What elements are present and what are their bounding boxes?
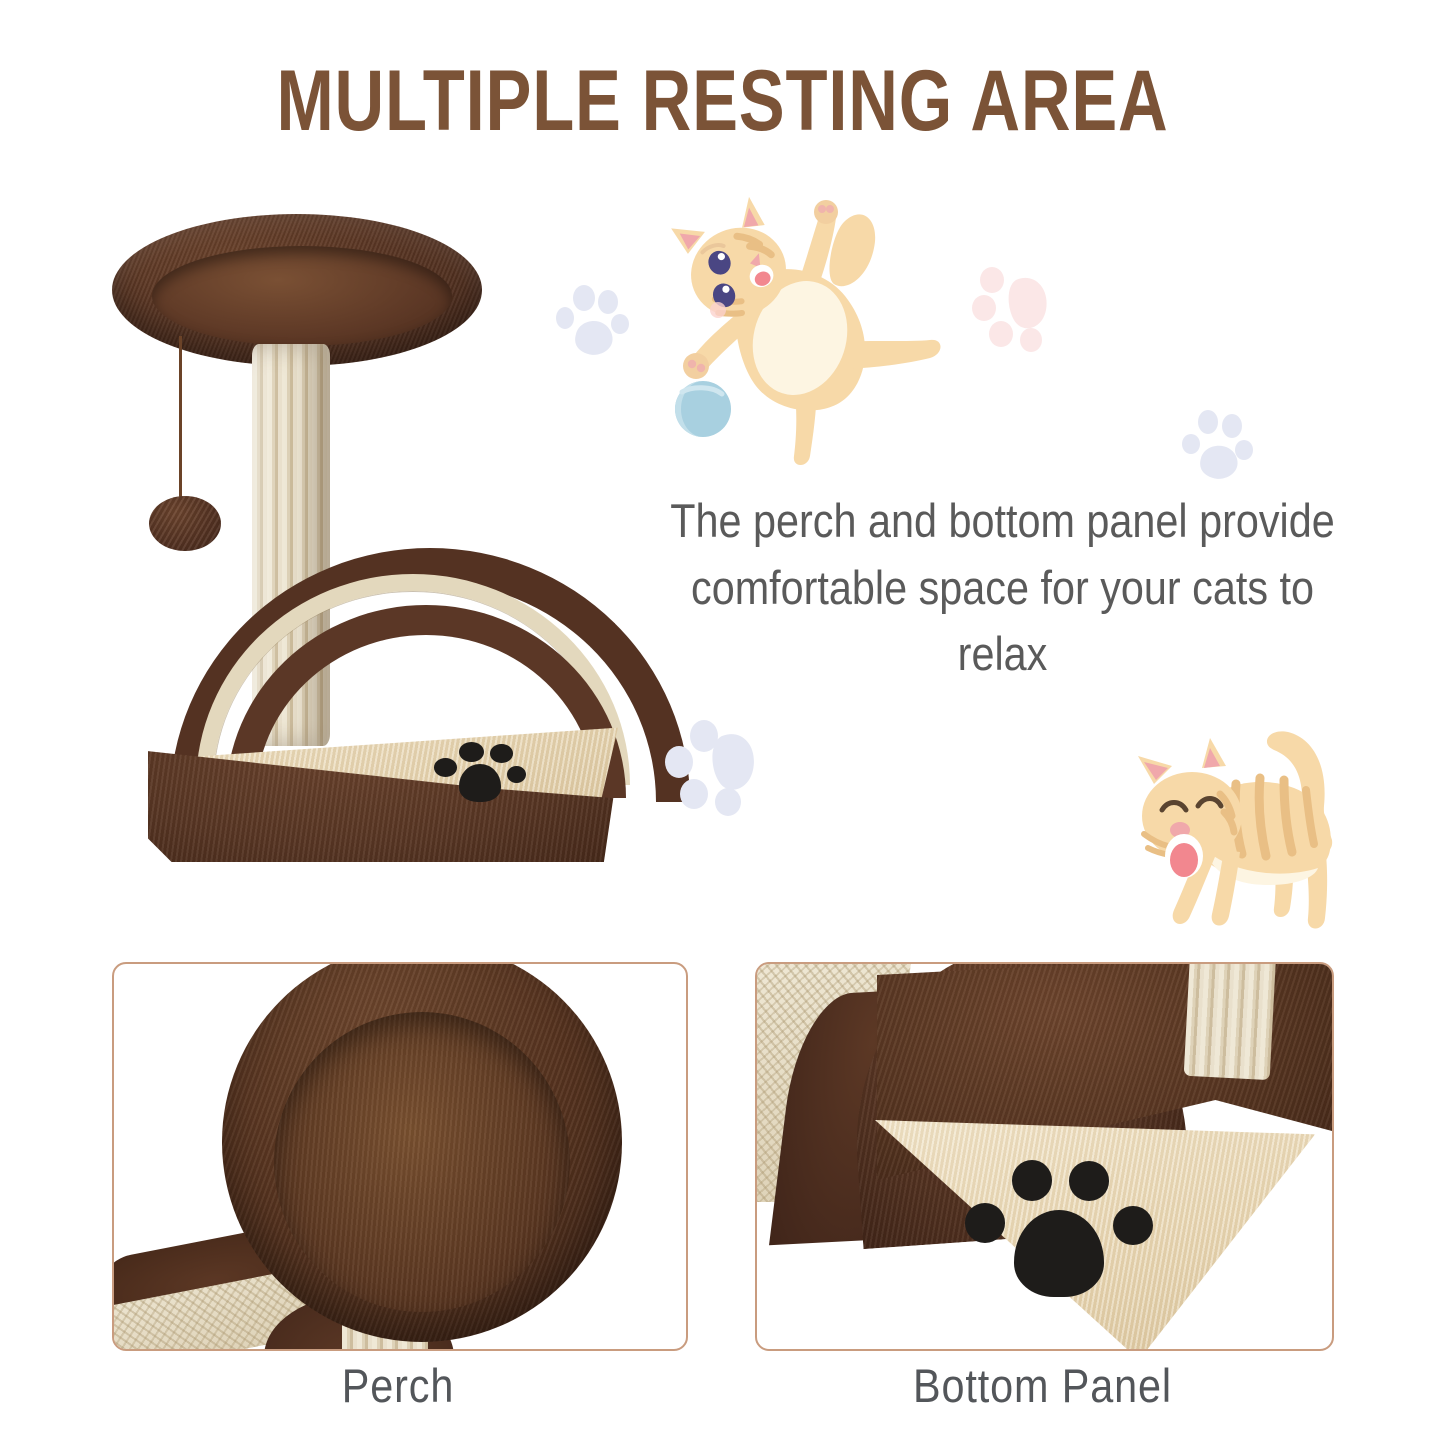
bottom-panel-caption: Bottom Panel xyxy=(790,1358,1296,1413)
description-text: The perch and bottom panel provide comfo… xyxy=(644,488,1361,688)
perch-caption: Perch xyxy=(146,1358,649,1413)
infographic-page: MULTIPLE RESTING AREA xyxy=(0,0,1445,1445)
paw-print-icon xyxy=(662,720,758,822)
perch-closeup-image xyxy=(114,964,686,1349)
bottom-panel-closeup-image xyxy=(757,964,1332,1349)
paw-print-icon xyxy=(963,1160,1153,1300)
paw-print-icon xyxy=(968,266,1054,358)
cat-stretching-icon xyxy=(1128,722,1393,937)
pom-pom-toy xyxy=(149,496,221,551)
page-title: MULTIPLE RESTING AREA xyxy=(145,52,1301,151)
paw-print-icon xyxy=(556,282,630,360)
description-line-2: comfortable space for your cats to relax xyxy=(644,555,1361,688)
perch-detail-panel xyxy=(112,962,688,1351)
pom-pom-string xyxy=(179,336,182,504)
perch-inner-seat xyxy=(152,246,452,346)
perch-bowl-outer xyxy=(222,962,622,1342)
base-platform xyxy=(148,694,618,862)
paw-print-icon xyxy=(430,742,526,804)
perch-bowl-seat xyxy=(274,1012,570,1312)
description-line-1: The perch and bottom panel provide xyxy=(644,488,1361,555)
paw-print-icon xyxy=(1182,408,1254,486)
toy-ball-icon xyxy=(672,378,734,440)
bottom-sisal-post xyxy=(1184,962,1277,1080)
bottom-panel-detail-panel xyxy=(755,962,1334,1351)
